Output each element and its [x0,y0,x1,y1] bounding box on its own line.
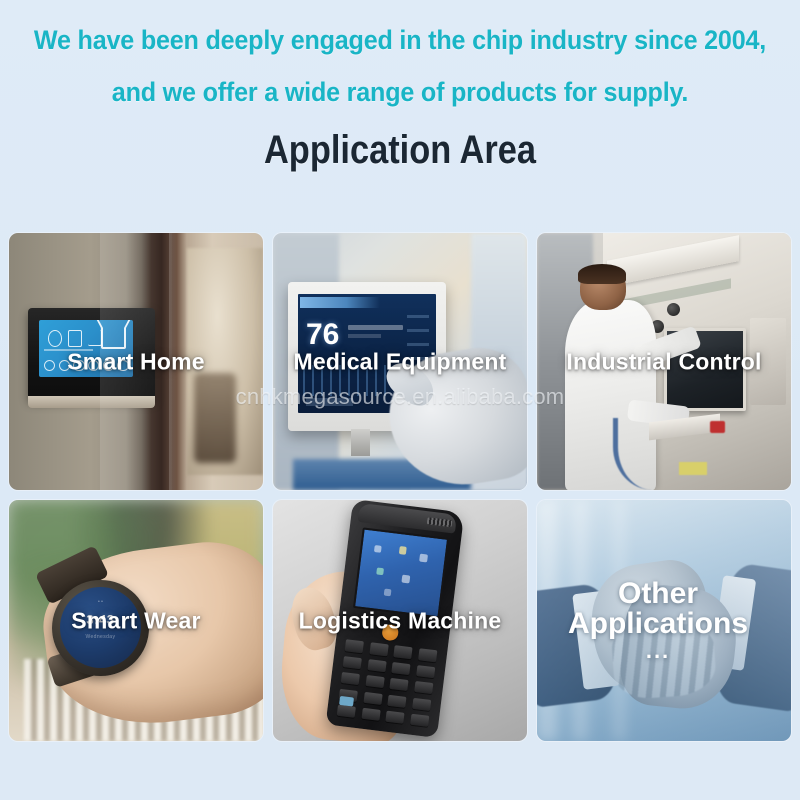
other-label-line-1: Other [537,579,785,610]
tile-smart-home[interactable]: Smart Home [9,233,263,490]
headline-line-1: We have been deeply engaged in the chip … [28,14,772,66]
monitor-stand [351,429,370,456]
monitor-text-row [348,325,403,330]
tile-other-applications[interactable]: Other Applications ... [537,500,791,741]
watch-status-row: • • [60,599,141,605]
monitor-status-bar [300,297,433,308]
weather-icon [48,330,62,347]
terminal-screen [353,527,449,618]
tile-label-logistics-machine: Logistics Machine [273,607,527,634]
keypad [337,639,437,727]
application-tiles-grid: Smart Home 76 [9,233,791,741]
tile-label-other-applications: Other Applications ... [537,579,785,663]
other-label-line-3: ... [537,640,785,662]
watch-date: Wednesday [60,634,141,640]
monitor-text-row-2 [348,334,381,338]
page-title: Application Area [56,128,744,173]
application-area-banner: We have been deeply engaged in the chip … [0,0,800,800]
other-label-line-2: Applications [537,609,785,640]
monitor-reading: 76 [306,320,339,350]
tile-label-industrial-control: Industrial Control [537,348,791,375]
headline: We have been deeply engaged in the chip … [28,14,772,118]
waveform-graph-2 [306,398,353,406]
red-indicator [710,421,725,434]
function-key [339,696,353,707]
calendar-icon [68,330,82,347]
tile-medical-equipment[interactable]: 76 Medical Equipment [273,233,527,490]
tile-label-smart-wear: Smart Wear [9,607,263,634]
tile-smart-wear[interactable]: • • 3:43 Wednesday Smart Wear [9,500,263,741]
yellow-tray [679,462,707,475]
tile-logistics-machine[interactable]: Logistics Machine [273,500,527,741]
tile-label-smart-home: Smart Home [9,348,263,375]
tile-industrial-control[interactable]: Industrial Control [537,233,791,490]
headline-line-2: and we offer a wide range of products fo… [28,66,772,118]
tile-label-medical-equipment: Medical Equipment [273,348,527,375]
technician-hair [578,264,626,285]
